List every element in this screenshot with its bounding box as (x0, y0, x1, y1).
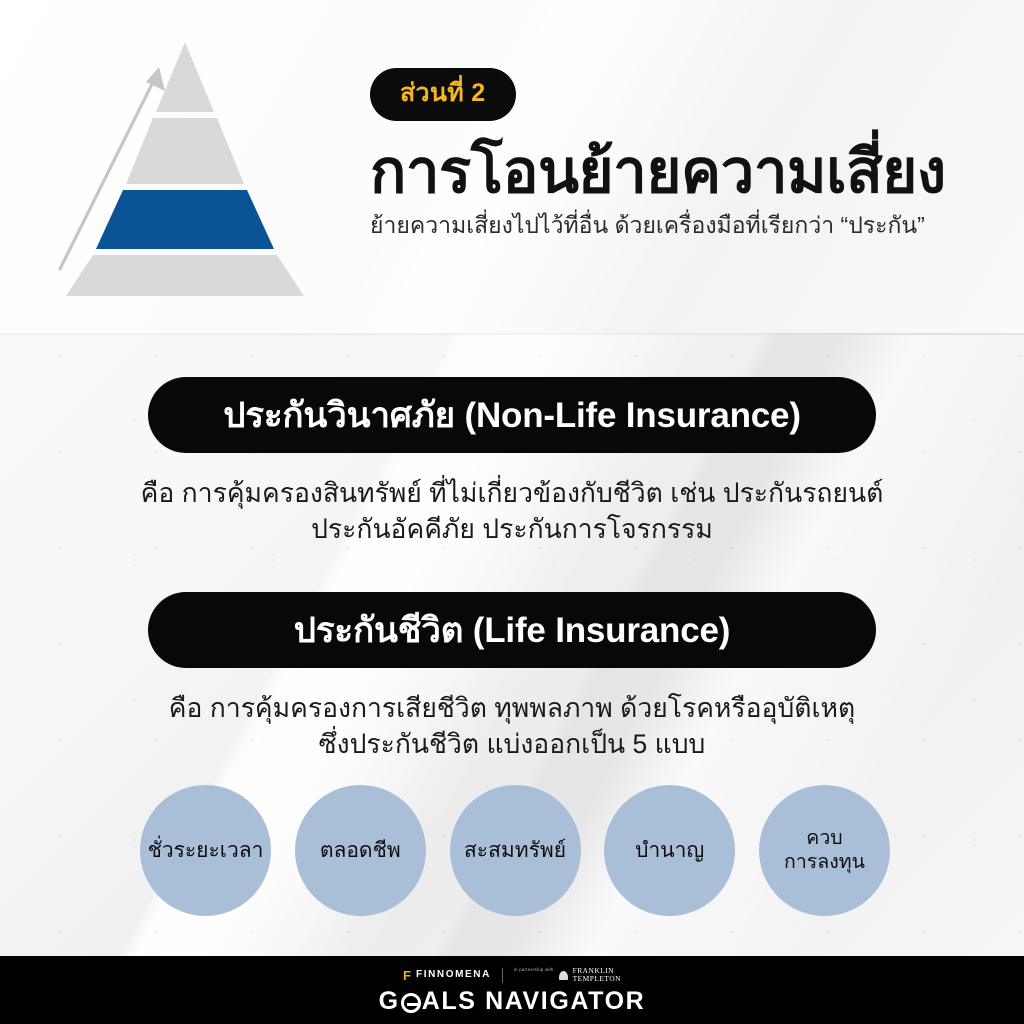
pyramid-tier-3-highlighted (96, 190, 274, 249)
partnership-label: in partnership with (514, 968, 554, 972)
description-line: ประกันอัคคีภัย ประกันการโจรกรรม (62, 511, 962, 547)
circle-label-line1: ตลอดชีพ (320, 838, 401, 864)
life-insurance-type-list: ชั่วระยะเวลา ตลอดชีพ สะสมทรัพย์ บำนาญ (140, 785, 890, 916)
footer-bar: F FINNOMENA in partnership with FRANKLIN… (0, 956, 1024, 1024)
header-text-group: ส่วนที่ 2 การโอนย้ายความเสี่ยง ย้ายความเ… (370, 68, 1000, 240)
circle-label-line1: ชั่วระยะเวลา (148, 838, 264, 864)
risk-pyramid (28, 34, 328, 302)
list-item: สะสมทรัพย์ (450, 785, 581, 916)
franklin-templeton-logo: in partnership with FRANKLIN TEMPLETON (514, 967, 621, 982)
pyramid-tier-2 (126, 118, 244, 184)
page-subtitle: ย้ายความเสี่ยงไปไว้ที่อื่น ด้วยเครื่องมื… (370, 211, 1000, 240)
goals-navigator-wordmark: G ALS NAVIGATOR (379, 989, 646, 1014)
section-badge: ส่วนที่ 2 (370, 68, 516, 121)
finnomena-wordmark: FINNOMENA (416, 970, 491, 980)
pyramid-tier-4 (66, 255, 304, 296)
franklin-bell-icon (558, 970, 569, 981)
footer-logo-row: F FINNOMENA in partnership with FRANKLIN… (403, 967, 621, 984)
goals-navigator-left: G (379, 989, 400, 1014)
list-item: ชั่วระยะเวลา (140, 785, 271, 916)
section-heading-life-insurance: ประกันชีวิต (Life Insurance) (148, 592, 876, 668)
franklin-templeton-wordmark: FRANKLIN TEMPLETON (573, 967, 621, 982)
list-item: ควบ การลงทุน (759, 785, 890, 916)
main-content: ประกันวินาศภัย (Non-Life Insurance) คือ … (0, 335, 1024, 956)
pyramid-icon (28, 34, 328, 302)
goals-navigator-o-icon (401, 993, 421, 1013)
circle-label-line2: การลงทุน (784, 851, 865, 875)
list-item: ตลอดชีพ (295, 785, 426, 916)
infographic-poster: ส่วนที่ 2 การโอนย้ายความเสี่ยง ย้ายความเ… (0, 0, 1024, 1024)
circle-label-line1: บำนาญ (635, 838, 704, 864)
circle-label-line1: สะสมทรัพย์ (464, 838, 566, 864)
footer-divider (502, 968, 503, 983)
finnomena-logo: F FINNOMENA (403, 969, 491, 982)
section-description-life-insurance: คือ การคุ้มครองการเสียชีวิต ทุพพลภาพ ด้ว… (62, 690, 962, 762)
section-description-non-life-insurance: คือ การคุ้มครองสินทรัพย์ ที่ไม่เกี่ยวข้อ… (62, 475, 962, 547)
goals-navigator-right: ALS NAVIGATOR (422, 989, 646, 1014)
circle-label-line1: ควบ (784, 827, 865, 851)
partner-name-line2: TEMPLETON (573, 975, 621, 983)
description-line: คือ การคุ้มครองการเสียชีวิต ทุพพลภาพ ด้ว… (62, 690, 962, 726)
description-line: คือ การคุ้มครองสินทรัพย์ ที่ไม่เกี่ยวข้อ… (62, 475, 962, 511)
section-heading-non-life-insurance: ประกันวินาศภัย (Non-Life Insurance) (148, 377, 876, 453)
finnomena-mark-icon: F (403, 969, 411, 982)
page-title: การโอนย้ายความเสี่ยง (370, 140, 1000, 205)
description-line: ซึ่งประกันชีวิต แบ่งออกเป็น 5 แบบ (62, 726, 962, 762)
pyramid-tier-1 (156, 42, 214, 112)
list-item: บำนาญ (604, 785, 735, 916)
